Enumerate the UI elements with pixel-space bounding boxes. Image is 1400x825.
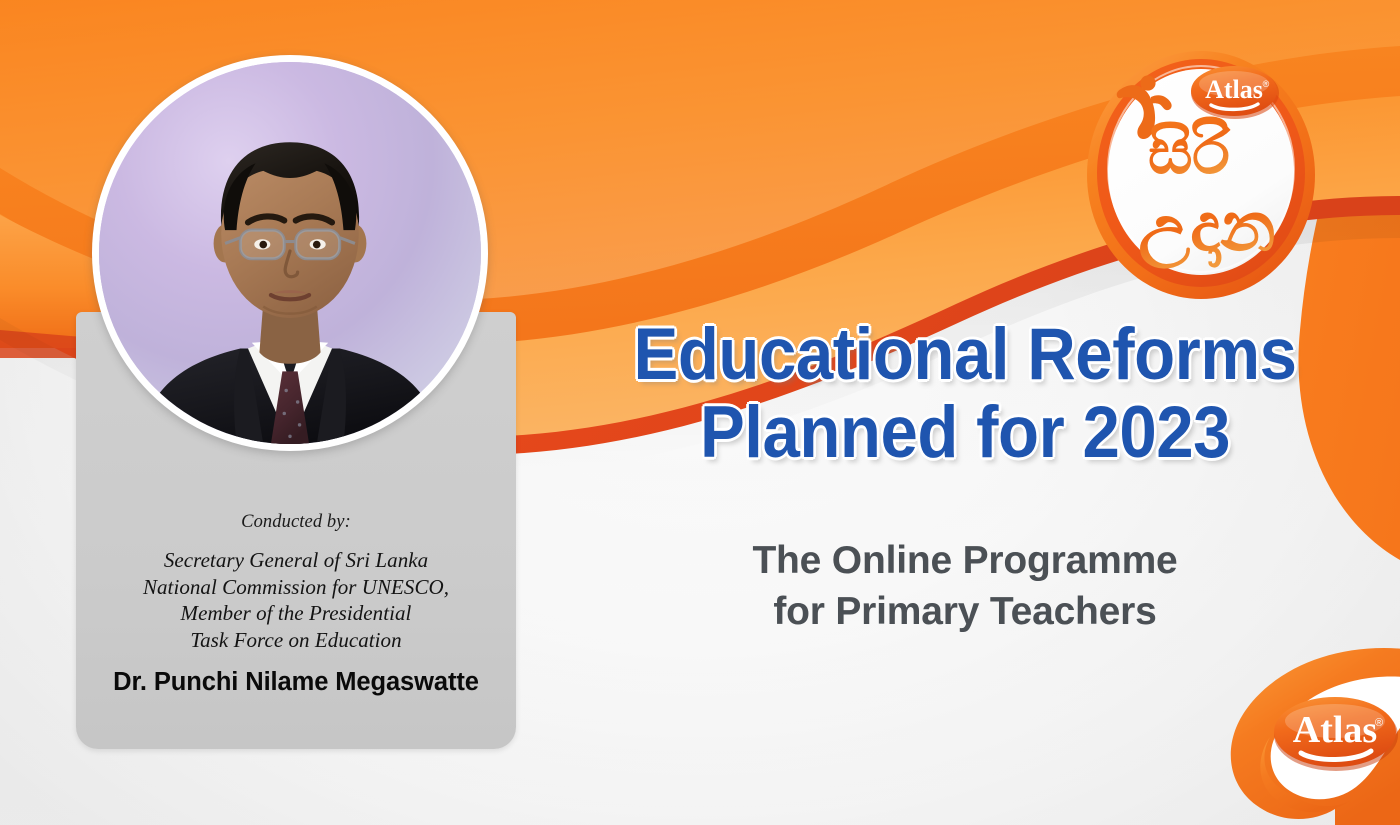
portrait-illustration	[99, 62, 481, 444]
headline: Educational Reforms Planned for 2023	[570, 316, 1360, 472]
credential-line-1: Secretary General of Sri Lanka	[92, 547, 500, 574]
siri-udana-medallion: Atlas ® සිරි උදාන	[1085, 45, 1317, 300]
credential-line-4: Task Force on Education	[92, 627, 500, 654]
sinhala-line-1: සිරි	[1148, 115, 1232, 188]
portrait-photo	[99, 62, 481, 444]
registered-mark-small: ®	[1263, 79, 1270, 89]
subtitle: The Online Programme for Primary Teacher…	[610, 535, 1320, 637]
speaker-name: Dr. Punchi Nilame Megaswatte	[92, 668, 500, 697]
headline-line-1: Educational Reforms	[602, 316, 1329, 394]
promotional-banner: Conducted by: Secretary General of Sri L…	[0, 0, 1400, 825]
speaker-portrait	[92, 55, 488, 451]
headline-line-2: Planned for 2023	[602, 394, 1329, 472]
atlas-wordmark-small: Atlas	[1205, 75, 1263, 104]
atlas-wordmark-bottom: Atlas	[1293, 709, 1377, 751]
subtitle-line-1: The Online Programme	[610, 535, 1320, 586]
atlas-brand-mark: Atlas ®	[1130, 625, 1400, 825]
registered-mark-bottom: ®	[1375, 717, 1383, 729]
sinhala-line-2: උදාන	[1138, 188, 1275, 269]
speaker-text-block: Conducted by: Secretary General of Sri L…	[76, 512, 516, 697]
credential-line-3: Member of the Presidential	[92, 600, 500, 627]
conducted-by-label: Conducted by:	[92, 512, 500, 533]
credential-line-2: National Commission for UNESCO,	[92, 574, 500, 601]
atlas-logo-bottom: Atlas ®	[1274, 697, 1398, 771]
